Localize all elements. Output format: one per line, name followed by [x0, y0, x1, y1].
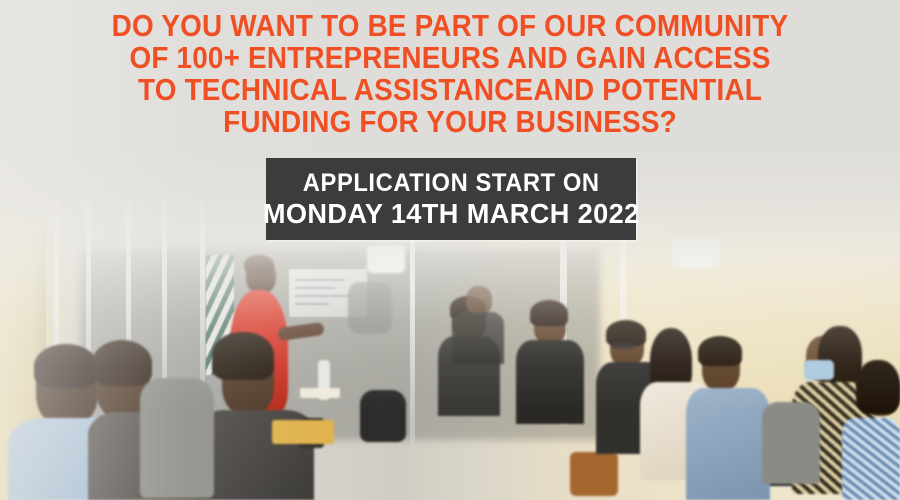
screen-content-line	[295, 287, 335, 289]
office-chair	[140, 378, 214, 498]
promotional-poster: DO YOU WANT TO BE PART OF OUR COMMUNITY …	[0, 0, 900, 500]
attendee-locs-hair	[856, 360, 900, 414]
screen-content-line	[295, 279, 345, 281]
notebook-stack	[300, 388, 340, 398]
attendee-hair	[698, 336, 742, 366]
attendee-locs-hair	[212, 332, 274, 380]
attendee-denim-jacket	[686, 388, 770, 500]
banner-line-application-start: APPLICATION START ON	[303, 168, 600, 198]
office-chair	[762, 402, 820, 484]
screen-content-line	[295, 303, 329, 305]
presenter-hair	[244, 255, 274, 275]
notebook-stack	[272, 420, 334, 444]
headline-line-4: FUNDING FOR YOUR BUSINESS?	[45, 106, 855, 138]
attendee-blue-print-shirt	[842, 418, 900, 500]
face-mask-icon	[804, 360, 834, 380]
glass-mullion	[200, 200, 205, 400]
screen-content-line	[295, 295, 351, 297]
attendee-hair	[34, 344, 98, 388]
ceiling-light-panel	[672, 238, 720, 268]
headline-block: DO YOU WANT TO BE PART OF OUR COMMUNITY …	[0, 10, 900, 138]
headline-line-2: OF 100+ ENTREPRENEURS AND GAIN ACCESS	[45, 42, 855, 74]
banner-line-date: MONDAY 14TH MARCH 2022	[263, 198, 640, 230]
ceiling-light-panel	[367, 245, 405, 273]
office-chair	[348, 282, 392, 334]
headline-line-1: DO YOU WANT TO BE PART OF OUR COMMUNITY	[45, 10, 855, 42]
attendee-hair	[92, 340, 152, 386]
application-date-banner: APPLICATION START ON MONDAY 14TH MARCH 2…	[266, 158, 636, 240]
glass-mullion	[410, 240, 415, 450]
attendee-eyeglasses	[612, 342, 634, 349]
handbag	[570, 452, 618, 496]
headline-line-3: TO TECHNICAL ASSISTANCEAND POTENTIAL	[45, 74, 855, 106]
backpack	[360, 390, 406, 442]
attendee-hair	[530, 300, 568, 326]
attendee-black-tee	[452, 312, 504, 364]
attendee-black-sweatshirt	[516, 340, 584, 424]
